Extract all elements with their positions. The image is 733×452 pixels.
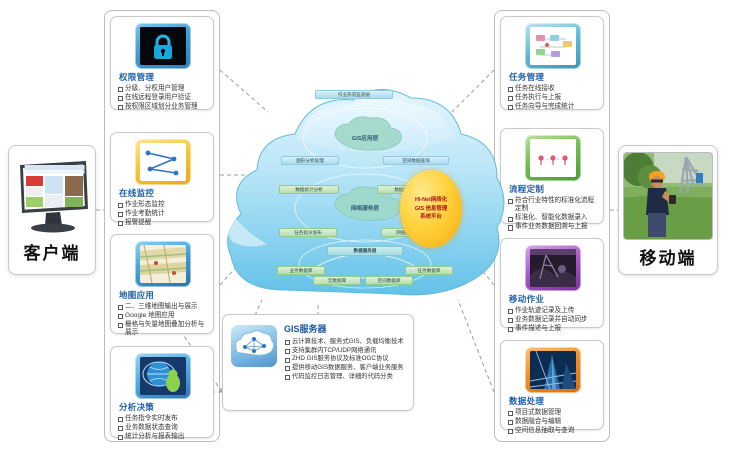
client-endpoint-panel: 客户端 [8,145,96,275]
list-item: Google 地图应用 [117,312,209,320]
feature-card-online-monitor[interactable]: 在线监控 作业形态监控 作业考勤统计 报警提醒 [110,132,214,222]
data-tower-icon [525,347,581,393]
card-bullet-list: 作业轨迹记录及上传 业务数据记录并自动同步 事件描述与上报 [507,307,599,333]
cloud-label-task-publish: 任务指令发布 [279,228,337,237]
list-item: 二、三维地图输出与展示 [117,303,209,311]
feature-card-map-application[interactable]: 地图应用 二、三维地图输出与展示 Google 地图应用 栅格与矢量地图叠加分析… [110,234,214,334]
central-cloud-graphic: 作业形态监测层 GIS应用层 图形分析处理 空间数据查询 数据统计分析 数据加密… [215,78,515,308]
platform-name-text: HI-Net网络化 GIS 信息管理 系统平台 [415,196,447,222]
cloud-core-label-gis-app: GIS应用层 [325,134,405,142]
gis-server-title: GIS服务器 [284,322,407,335]
gis-server-bullet-list: 云计算技术、服务式GIS、负载均衡技术 支持集群内TCP/UDP网络通讯 ZHD… [284,338,407,381]
list-item: 数据融合与编辑 [507,418,599,426]
list-item: 任务指令实时发布 [117,415,209,423]
cloud-label-data-statistics: 数据统计分析 [279,185,339,194]
card-bullet-list: 任务指令实时发布 业务数据状态查询 统计分析与报表输出 [117,415,209,441]
platform-line-3: 系统平台 [415,213,447,222]
cloud-label-top-monitor: 作业形态监测层 [315,90,393,99]
list-item: 符合行业特性的标准化流程定制 [507,197,599,214]
mobile-field-icon [525,245,581,291]
card-title: 任务管理 [509,72,599,83]
card-title: 权限管理 [119,72,209,83]
platform-line-2: GIS 信息管理 [415,205,447,214]
padlock-icon [135,23,191,69]
list-item: 任务向导与完成统计 [507,103,599,111]
list-item: 空间信息抽取与查询 [507,427,599,435]
card-title: 地图应用 [119,290,209,301]
card-title: 移动作业 [509,294,599,305]
list-item: 按权限区域划分业务管理 [117,103,209,111]
card-title: 分析决策 [119,402,209,413]
list-item: 标准化、智能化数据录入 [507,214,599,222]
list-item: 作业轨迹记录及上传 [507,307,599,315]
list-item: 代码监控日志管理、详细的代码分类 [284,373,407,381]
platform-line-1: HI-Net网络化 [415,196,447,205]
card-bullet-list: 符合行业特性的标准化流程定制 标准化、智能化数据录入 事件业务数据回溯与上报 [507,197,599,232]
card-bullet-list: 项目式数据管理 数据融合与编辑 空间信息抽取与查询 [507,409,599,435]
cloud-label-graphic-analysis: 图形分析处理 [281,156,339,165]
list-item: 业务数据状态查询 [117,424,209,432]
list-item: 支持集群内TCP/UDP网络通讯 [284,347,407,355]
cloud-label-spatial-query: 空间数据查询 [383,156,449,165]
architecture-diagram-canvas: 客户端 [0,0,733,452]
list-item: 项目式数据管理 [507,409,599,417]
list-item: 任务执行与上报 [507,94,599,102]
map-sheet-icon [135,241,191,287]
card-title: 在线监控 [119,188,209,199]
cloud-node-business-db: 业务数据库 [277,266,325,275]
card-title: 数据处理 [509,396,599,407]
card-title: 流程定制 [509,184,599,195]
list-item: 分级、分权用户管理 [117,85,209,93]
cloud-node-spatial-db: 空间数据库 [365,276,413,285]
mobile-endpoint-label: 移动端 [640,244,697,269]
desktop-monitor-icon [12,157,92,235]
list-item: 事件描述与上报 [507,325,599,333]
feature-card-mobile-operation[interactable]: 移动作业 作业轨迹记录及上传 业务数据记录并自动同步 事件描述与上报 [500,238,604,328]
card-bullet-list: 分级、分权用户管理 在线远程登录用户验证 按权限区域划分业务管理 [117,85,209,111]
list-item: 业务数据记录并自动同步 [507,316,599,324]
list-item: 任务在线接收 [507,85,599,93]
platform-name-badge: HI-Net网络化 GIS 信息管理 系统平台 [400,170,462,248]
mobile-endpoint-panel: 移动端 [618,145,718,275]
feature-card-process-customization[interactable]: 流程定制 符合行业特性的标准化流程定制 标准化、智能化数据录入 事件业务数据回溯… [500,128,604,224]
list-item: 作业考勤统计 [117,210,209,218]
feature-card-analysis-decision[interactable]: 分析决策 任务指令实时发布 业务数据状态查询 统计分析与报表输出 [110,346,214,438]
cloud-core-label-data-service: 数据服务层 [327,246,403,256]
globe-analysis-icon [135,353,191,399]
card-bullet-list: 任务在线接收 任务执行与上报 任务向导与完成统计 [507,85,599,111]
task-flow-icon [525,23,581,69]
process-nodes-icon [525,135,581,181]
cloud-core-label-network-service: 网络服务层 [325,204,405,212]
cloud-node-metadata-db: 元数据库 [313,276,361,285]
cloud-node-task-db: 任务数据库 [405,266,453,275]
list-item: 提供移动GIS数据服务、客户端业务服务 [284,364,407,372]
card-bullet-list: 作业形态监控 作业考勤统计 报警提醒 [117,201,209,227]
field-worker-photo [623,152,713,240]
card-bullet-list: 二、三维地图输出与展示 Google 地图应用 栅格与矢量地图叠加分析与展示 [117,303,209,338]
cloud-network-icon [231,325,277,367]
list-item: 统计分析与报表输出 [117,433,209,441]
list-item: 云计算技术、服务式GIS、负载均衡技术 [284,338,407,346]
cloud-shape [215,78,515,308]
line-chart-icon [135,139,191,185]
list-item: 报警提醒 [117,219,209,227]
list-item: 事件业务数据回溯与上报 [507,223,599,231]
list-item: ZHD GIS服务协议及标准OGC协议 [284,355,407,363]
list-item: 在线远程登录用户验证 [117,94,209,102]
feature-card-permission[interactable]: 权限管理 分级、分权用户管理 在线远程登录用户验证 按权限区域划分业务管理 [110,16,214,110]
list-item: 作业形态监控 [117,201,209,209]
gis-server-card[interactable]: GIS服务器 云计算技术、服务式GIS、负载均衡技术 支持集群内TCP/UDP网… [222,314,414,411]
list-item: 栅格与矢量地图叠加分析与展示 [117,321,209,338]
feature-card-task-management[interactable]: 任务管理 任务在线接收 任务执行与上报 任务向导与完成统计 [500,16,604,110]
feature-card-data-processing[interactable]: 数据处理 项目式数据管理 数据融合与编辑 空间信息抽取与查询 [500,340,604,430]
client-endpoint-label: 客户端 [24,239,81,264]
